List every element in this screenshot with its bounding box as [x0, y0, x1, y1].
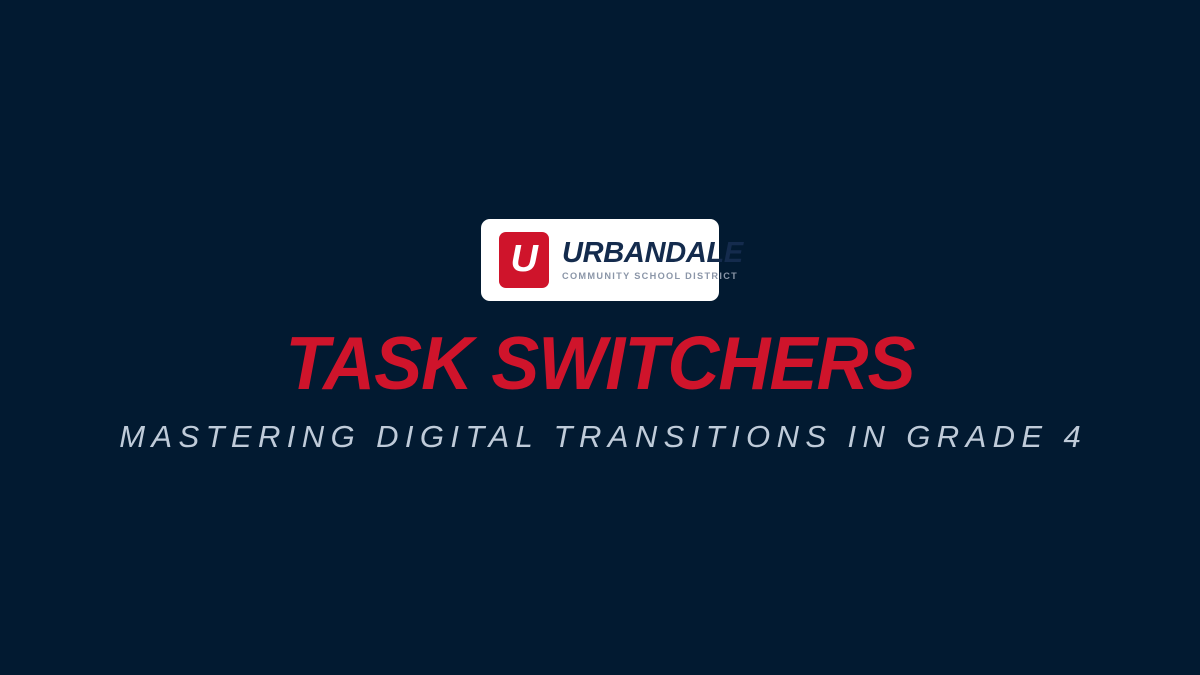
- title-slide: U URBANDALE COMMUNITY SCHOOL DISTRICT TA…: [0, 0, 1200, 675]
- urbandale-u-logo-icon: U: [499, 232, 549, 288]
- logo-mark-letter: U: [511, 240, 538, 278]
- district-logo-card: U URBANDALE COMMUNITY SCHOOL DISTRICT: [481, 219, 719, 301]
- logo-district-tagline: COMMUNITY SCHOOL DISTRICT: [562, 270, 743, 282]
- logo-district-name: URBANDALE: [562, 238, 743, 268]
- slide-subtitle: MASTERING DIGITAL TRANSITIONS IN GRADE 4: [0, 418, 1200, 456]
- slide-title: TASK SWITCHERS: [24, 324, 1176, 402]
- logo-wordmark: URBANDALE COMMUNITY SCHOOL DISTRICT: [562, 238, 743, 282]
